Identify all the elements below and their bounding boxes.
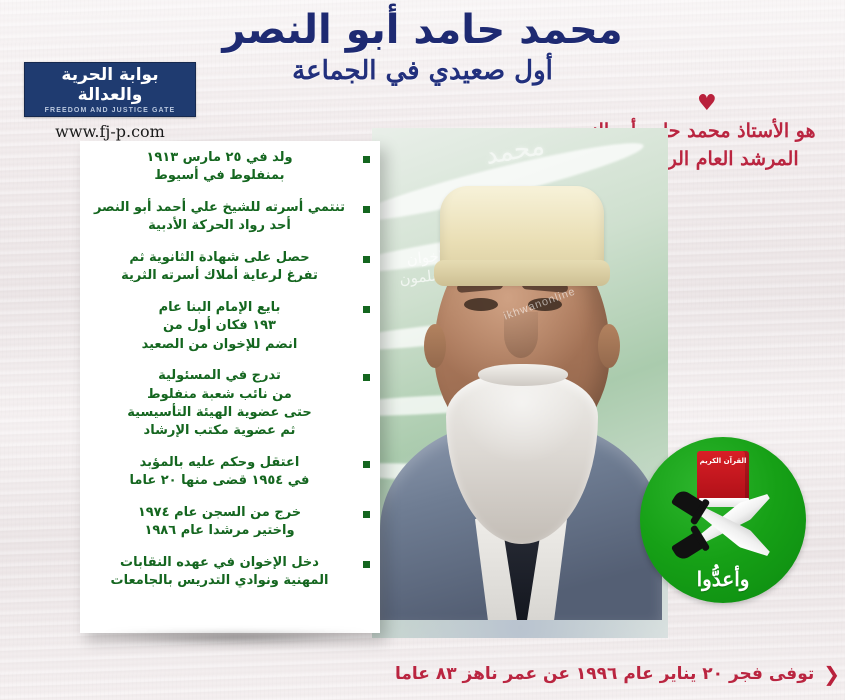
fact-text: ولد في ٢٥ مارس ١٩١٣ بمنفلوط في أسيوط — [84, 149, 355, 186]
footer-banner: ❮ توفى فجر ٢٠ يناير عام ١٩٩٦ عن عمر ناهز… — [348, 664, 840, 684]
logo-arabic-name: بوابة الحرية والعدالة — [31, 66, 189, 105]
list-item: ولد في ٢٥ مارس ١٩١٣ بمنفلوط في أسيوط — [84, 149, 374, 186]
fact-text: بايع الإمام البنا عام ١٩٣ فكان أول من ان… — [84, 299, 355, 354]
fact-text: تدرج في المسئولية من نائب شعبة منفلوط حت… — [84, 367, 355, 441]
biography-facts-list: ولد في ٢٥ مارس ١٩١٣ بمنفلوط في أسيوط تنت… — [80, 141, 380, 633]
moustache — [478, 364, 568, 386]
prayer-cap-band — [434, 260, 610, 286]
heart-chevron-icon: ♥ — [697, 93, 717, 115]
bullet-square-icon — [363, 461, 370, 468]
bullet-square-icon — [363, 206, 370, 213]
fact-text: دخل الإخوان في عهده النقابات المهنية ونو… — [84, 554, 355, 591]
list-item: دخل الإخوان في عهده النقابات المهنية ونو… — [84, 554, 374, 591]
bullet-square-icon — [363, 156, 370, 163]
fact-text: حصل على شهادة الثانوية ثم تفرغ لرعاية أم… — [84, 249, 355, 286]
facts-panel-shadow — [86, 634, 386, 654]
person-illustration — [372, 128, 668, 638]
list-item: خرج من السجن عام ١٩٧٤ واختير مرشدا عام ١… — [84, 504, 374, 541]
quran-book-icon: القرآن الكريم — [697, 451, 749, 501]
bullet-square-icon — [363, 374, 370, 381]
quran-book-label: القرآن الكريم — [697, 457, 749, 466]
chevron-left-icon: ❮ — [823, 664, 840, 684]
page-title: محمد حامد أبو النصر — [0, 8, 845, 52]
list-item: حصل على شهادة الثانوية ثم تفرغ لرعاية أم… — [84, 249, 374, 286]
list-item: تنتمي أسرته للشيخ علي أحمد أبو النصر أحد… — [84, 199, 374, 236]
logo-english-name: FREEDOM AND JUSTICE GATE — [31, 107, 189, 114]
portrait-photo: محمد الإخوان المسلمون ikhwanonline — [372, 128, 668, 638]
fact-text: اعتقل وحكم عليه بالمؤبد في ١٩٥٤ قضى منها… — [84, 454, 355, 491]
logo-website-url[interactable]: www.fj-p.com — [24, 122, 196, 141]
ear-left — [424, 324, 446, 368]
death-date-text: توفى فجر ٢٠ يناير عام ١٩٩٦ عن عمر ناهز ٨… — [395, 664, 814, 684]
ear-right — [598, 324, 620, 368]
bullet-square-icon — [363, 256, 370, 263]
list-item: اعتقل وحكم عليه بالمؤبد في ١٩٥٤ قضى منها… — [84, 454, 374, 491]
bullet-square-icon — [363, 561, 370, 568]
muslim-brotherhood-emblem: القرآن الكريم وأعدُّوا — [640, 437, 806, 603]
list-item: بايع الإمام البنا عام ١٩٣ فكان أول من ان… — [84, 299, 374, 354]
fact-text: خرج من السجن عام ١٩٧٤ واختير مرشدا عام ١… — [84, 504, 355, 541]
site-logo[interactable]: بوابة الحرية والعدالة FREEDOM AND JUSTIC… — [24, 62, 196, 141]
bullet-square-icon — [363, 511, 370, 518]
logo-box: بوابة الحرية والعدالة FREEDOM AND JUSTIC… — [24, 62, 196, 117]
bullet-square-icon — [363, 306, 370, 313]
infographic-poster: محمد حامد أبو النصر أول صعيدي في الجماعة… — [0, 0, 845, 700]
emblem-motto: وأعدُّوا — [640, 567, 806, 591]
fact-text: تنتمي أسرته للشيخ علي أحمد أبو النصر أحد… — [84, 199, 355, 236]
list-item: تدرج في المسئولية من نائب شعبة منفلوط حت… — [84, 367, 374, 441]
eye-left — [464, 298, 498, 311]
